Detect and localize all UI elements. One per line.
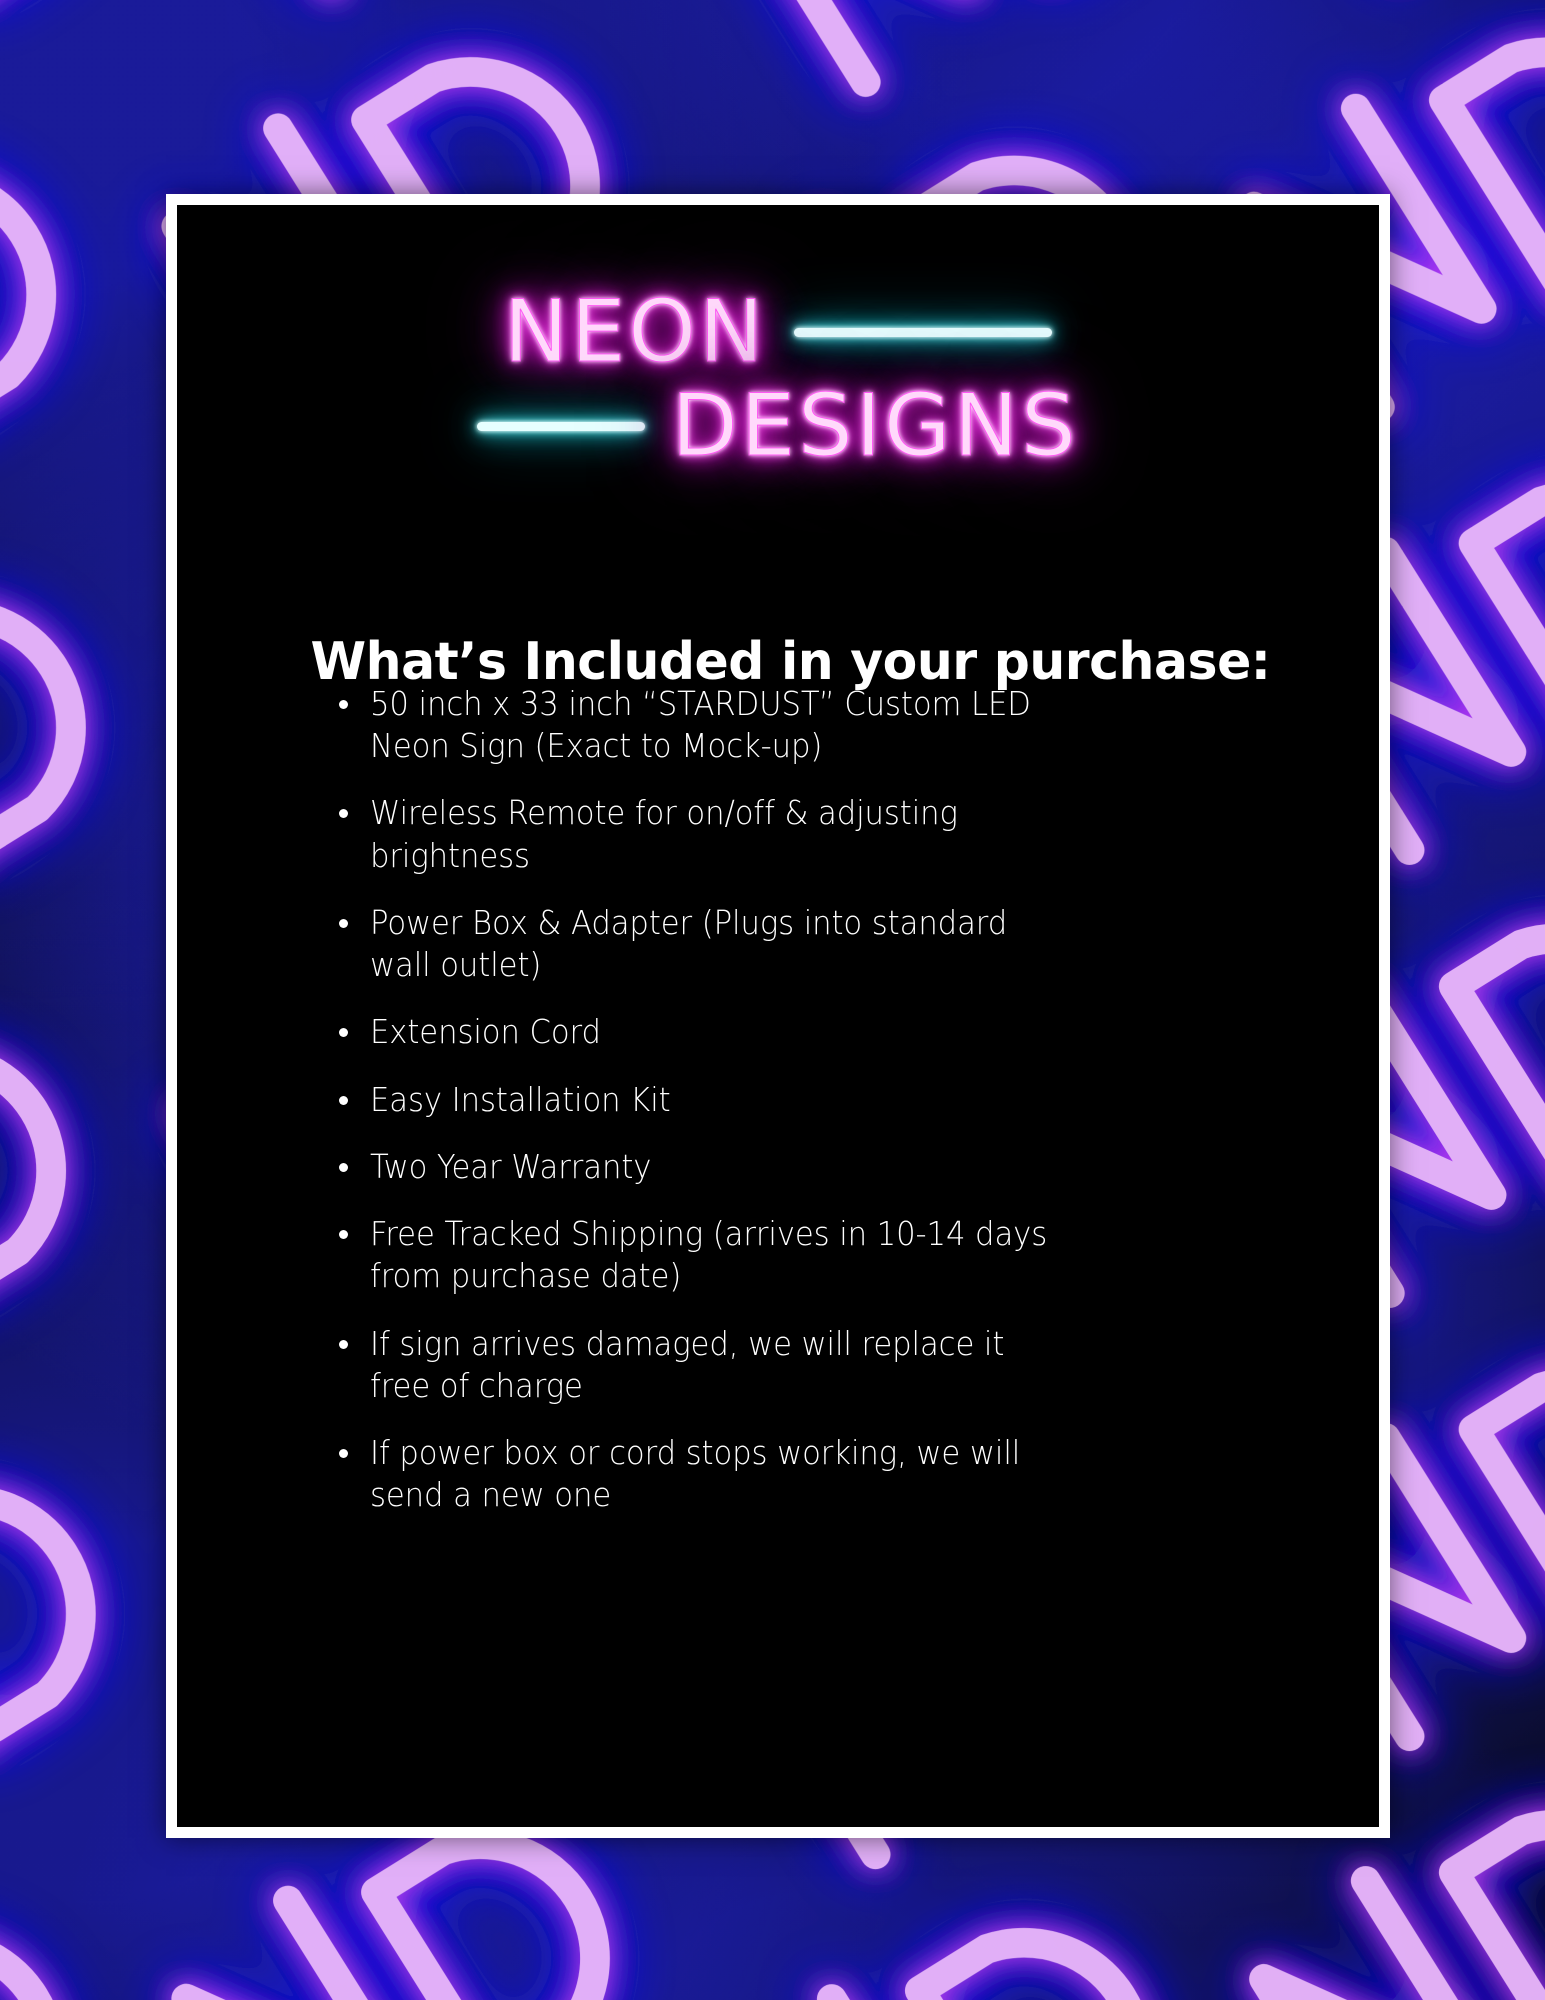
neon-designs-logo: NEON DESIGNS — [177, 283, 1379, 503]
list-item: Two Year Warranty — [335, 1146, 1235, 1188]
list-item: Free Tracked Shipping (arrives in 10-14 … — [335, 1213, 1235, 1297]
bullet-dot-icon — [339, 1028, 348, 1037]
bullet-dot-icon — [339, 1449, 348, 1458]
logo-row-top: NEON — [177, 289, 1379, 375]
list-item: Extension Cord — [335, 1011, 1235, 1053]
bullet-dot-icon — [339, 1163, 348, 1172]
list-item-label: Wireless Remote for on/off & adjusting b… — [370, 792, 1174, 876]
list-item: If power box or cord stops working, we w… — [335, 1432, 1235, 1516]
card-body: NEON DESIGNS What’s Included in your pur… — [177, 205, 1379, 1827]
list-item-label: Power Box & Adapter (Plugs into standard… — [370, 902, 1174, 986]
bullet-dot-icon — [339, 1230, 348, 1239]
page-root: NEON DESIGNS What’s Included in your pur… — [0, 0, 1545, 2000]
logo-word-designs: DESIGNS — [671, 383, 1078, 469]
bullet-dot-icon — [339, 919, 348, 928]
list-item-label: If power box or cord stops working, we w… — [370, 1432, 1174, 1516]
list-item: If sign arrives damaged, we will replace… — [335, 1323, 1235, 1407]
logo-word-neon: NEON — [504, 289, 767, 375]
list-item-label: Free Tracked Shipping (arrives in 10-14 … — [370, 1213, 1174, 1297]
cyan-neon-bar-top-icon — [794, 328, 1052, 337]
bullet-dot-icon — [339, 809, 348, 818]
list-item-label: Easy Installation Kit — [370, 1079, 1174, 1121]
list-item: Power Box & Adapter (Plugs into standard… — [335, 902, 1235, 986]
list-item: Easy Installation Kit — [335, 1079, 1235, 1121]
bullet-dot-icon — [339, 700, 348, 709]
card-white-frame: NEON DESIGNS What’s Included in your pur… — [166, 194, 1390, 1838]
page-title: What’s Included in your purchase: — [303, 635, 1278, 690]
list-item-label: Extension Cord — [370, 1011, 1174, 1053]
list-item-label: If sign arrives damaged, we will replace… — [370, 1323, 1174, 1407]
bullet-dot-icon — [339, 1340, 348, 1349]
list-item: Wireless Remote for on/off & adjusting b… — [335, 792, 1235, 876]
includes-list: 50 inch x 33 inch “STARDUST” Custom LED … — [335, 683, 1235, 1517]
list-item-label: 50 inch x 33 inch “STARDUST” Custom LED … — [370, 683, 1174, 767]
bullet-dot-icon — [339, 1096, 348, 1105]
cyan-neon-bar-left-icon — [477, 422, 645, 431]
list-item: 50 inch x 33 inch “STARDUST” Custom LED … — [335, 683, 1235, 767]
list-item-label: Two Year Warranty — [370, 1146, 1174, 1188]
logo-row-bottom: DESIGNS — [177, 383, 1379, 469]
